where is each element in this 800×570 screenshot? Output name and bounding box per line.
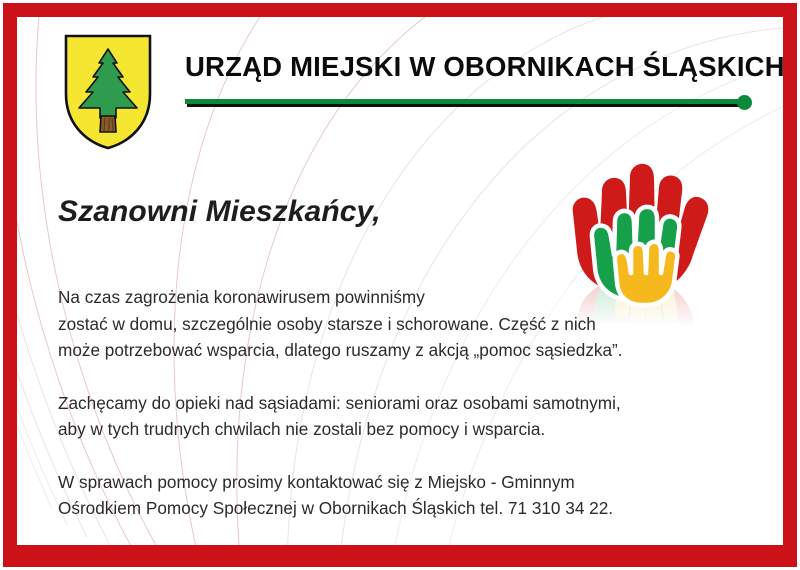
paragraph-1: Na czas zagrożenia koronawirusem powinni… bbox=[58, 284, 768, 364]
poster-content-area: URZĄD MIEJSKI W OBORNIKACH ŚLĄSKICH bbox=[17, 17, 783, 545]
paragraph-2: Zachęcamy do opieki nad sąsiadami: senio… bbox=[58, 390, 768, 443]
coat-of-arms-icon bbox=[60, 32, 156, 152]
rule-green-line bbox=[185, 99, 745, 104]
title-underline-rule bbox=[185, 95, 765, 115]
body-text-block: Na czas zagrożenia koronawirusem powinni… bbox=[58, 284, 768, 522]
salutation-heading: Szanowni Mieszkańcy, bbox=[58, 195, 381, 229]
poster-announcement: URZĄD MIEJSKI W OBORNIKACH ŚLĄSKICH bbox=[0, 0, 800, 570]
paragraph-3: W sprawach pomocy prosimy kontaktować si… bbox=[58, 469, 768, 522]
green-dot-icon bbox=[737, 95, 752, 110]
header-title-container: URZĄD MIEJSKI W OBORNIKACH ŚLĄSKICH bbox=[185, 53, 765, 81]
page-title: URZĄD MIEJSKI W OBORNIKACH ŚLĄSKICH bbox=[185, 53, 765, 81]
